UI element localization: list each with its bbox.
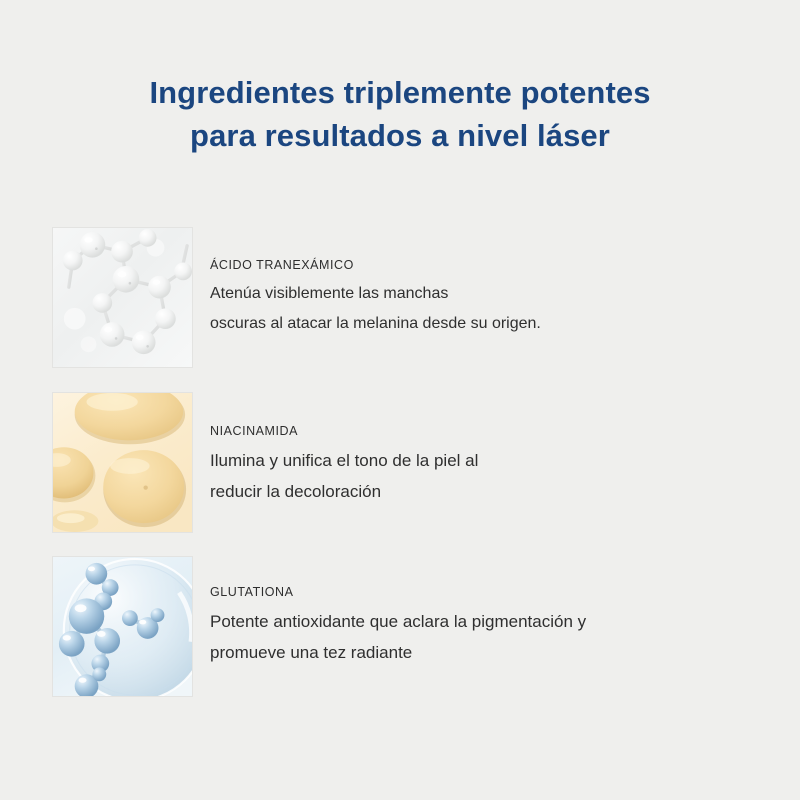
ingredient-description-line-2: reducir la decoloración [210, 476, 770, 507]
page-title-line-1: Ingredientes triplemente potentes [0, 72, 800, 115]
ingredient-item-acido-tranexamico: ÁCIDO TRANEXÁMICO Atenúa visiblemente la… [52, 227, 772, 368]
ingredient-description: Potente antioxidante que aclara la pigme… [210, 606, 770, 669]
ingredient-description-line-1: Ilumina y unifica el tono de la piel al [210, 445, 770, 476]
ingredient-name: ÁCIDO TRANEXÁMICO [210, 258, 770, 272]
ingredient-name: GLUTATIONA [210, 585, 770, 599]
ingredient-item-glutationa: GLUTATIONA Potente antioxidante que acla… [52, 556, 772, 697]
page-title-line-2: para resultados a nivel láser [0, 115, 800, 158]
ingredient-copy: GLUTATIONA Potente antioxidante que acla… [210, 585, 770, 669]
page-title: Ingredientes triplemente potentes para r… [0, 72, 800, 158]
ingredient-description-line-2: promueve una tez radiante [210, 637, 770, 668]
ingredient-description-line-2: oscuras al atacar la melanina desde su o… [210, 309, 770, 339]
ingredient-description: Ilumina y unifica el tono de la piel al … [210, 445, 770, 508]
ingredient-copy: ÁCIDO TRANEXÁMICO Atenúa visiblemente la… [210, 258, 770, 338]
ingredient-description-line-1: Atenúa visiblemente las manchas [210, 279, 770, 309]
ingredient-thumbnail-niacinamida [52, 392, 193, 533]
ingredient-description-line-1: Potente antioxidante que aclara la pigme… [210, 606, 770, 637]
ingredient-name: NIACINAMIDA [210, 424, 770, 438]
ingredients-infographic: Ingredientes triplemente potentes para r… [0, 0, 800, 800]
ingredient-item-niacinamida: NIACINAMIDA Ilumina y unifica el tono de… [52, 392, 772, 533]
ingredient-thumbnail-acido-tranexamico [52, 227, 193, 368]
ingredient-copy: NIACINAMIDA Ilumina y unifica el tono de… [210, 424, 770, 508]
ingredient-thumbnail-glutationa [52, 556, 193, 697]
ingredient-description: Atenúa visiblemente las manchas oscuras … [210, 279, 770, 338]
